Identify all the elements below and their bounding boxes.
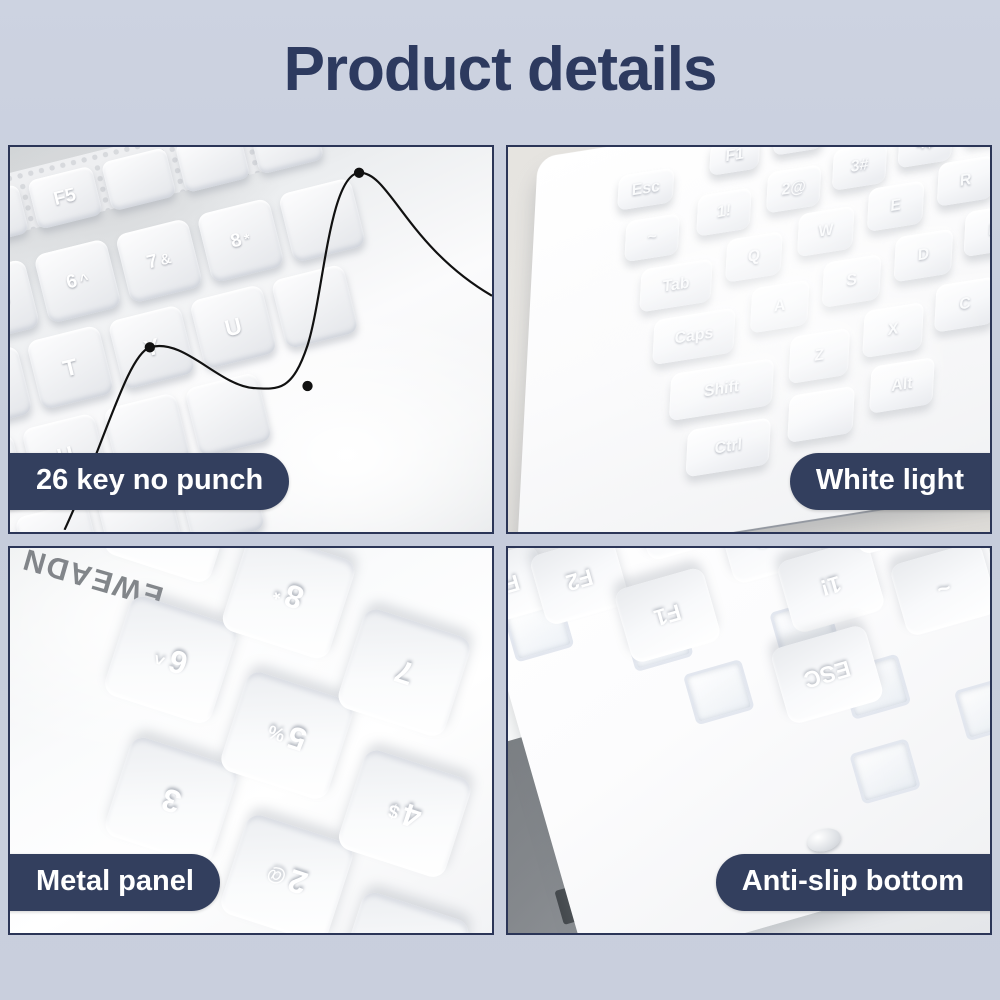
badge-metal-panel: Metal panel	[8, 854, 220, 911]
keycap: 6^	[101, 594, 240, 728]
keycap: F1	[613, 566, 722, 664]
keycap	[787, 385, 855, 442]
keycap: R	[936, 155, 992, 207]
keycap: ~	[889, 546, 992, 638]
product-detail-grid: F3 F4 F5 4$ 5% 6^ 7& 8*	[8, 145, 992, 935]
keycap: 1!	[776, 546, 887, 635]
keycap: 8*	[219, 546, 358, 662]
badge-white-light: White light	[790, 453, 992, 510]
product-details-page: Product details F3 F4 F5 4$ 5	[0, 0, 1000, 1000]
keycap: 3#	[634, 546, 735, 562]
panel-key-rollover[interactable]: F3 F4 F5 4$ 5% 6^ 7& 8*	[8, 145, 494, 534]
keycap: F2	[529, 546, 632, 627]
keycap: Caps	[652, 307, 735, 365]
panel-metal-panel[interactable]: EWEADN 1 2@ 3 4$ 5% 6^ 7 8* Metal panel	[8, 546, 494, 935]
keycap: 1!	[696, 187, 751, 236]
keycap: ~	[624, 213, 679, 262]
keycap: 7	[334, 606, 473, 740]
keycap: E	[867, 180, 925, 232]
keycap: F	[963, 203, 992, 257]
keycap: A	[750, 279, 810, 333]
keycap: 1	[333, 890, 472, 935]
panel-anti-slip-bottom[interactable]: F1 F2 F1 3# 2@ 1! W C A ~ ESC Anti-slip …	[506, 546, 992, 935]
keycap: Esc	[617, 167, 674, 210]
switch-stem	[849, 738, 921, 805]
keycap: F1	[709, 145, 760, 176]
keycap: 5%	[217, 669, 356, 803]
keycap: D	[893, 228, 953, 282]
switch-stem	[683, 659, 755, 726]
keycap: W	[797, 205, 855, 257]
badge-anti-slip-bottom: Anti-slip bottom	[716, 854, 992, 911]
keycap: Q	[725, 231, 783, 283]
keycap: X	[862, 302, 924, 358]
keycap: Shift	[669, 358, 774, 421]
keycap: 3#	[831, 145, 886, 191]
badge-key-rollover: 26 key no punch	[8, 453, 289, 510]
keycap: 4$	[335, 747, 474, 881]
page-title: Product details	[284, 34, 717, 105]
keycap: U	[189, 283, 278, 369]
keycap: 2@	[766, 164, 821, 213]
keycap: 7&	[115, 217, 204, 303]
keycap: Z	[788, 327, 850, 383]
keycap: Tab	[639, 258, 712, 312]
keycap	[175, 145, 251, 193]
keycap: Ctrl	[685, 417, 770, 477]
page-title-container: Product details	[0, 34, 1000, 105]
keycap: 6^	[33, 238, 122, 324]
keycap	[248, 145, 324, 174]
keycap: F5	[27, 165, 103, 229]
keycap: Y	[108, 304, 197, 390]
keycap	[101, 546, 240, 586]
keycap: F4	[8, 183, 30, 247]
keycap	[101, 147, 177, 211]
panel-white-light[interactable]: Esc F1 F2 F3 ~ 1! 2@ 3# 4$ 5% Tab Q W E …	[506, 145, 992, 534]
keycap: 8*	[196, 197, 285, 283]
keycap: F2	[773, 145, 824, 155]
switch-stem	[954, 675, 992, 742]
keycap: C	[934, 276, 992, 332]
keycap: 5%	[8, 258, 41, 344]
keycap: 3	[101, 735, 240, 869]
keycap	[278, 177, 367, 263]
keycap	[271, 263, 360, 349]
keycap: Alt	[869, 357, 935, 414]
keycap: 2@	[217, 812, 356, 935]
keycap: S	[821, 254, 881, 308]
keycap	[184, 371, 273, 457]
keycap: T	[26, 324, 115, 410]
